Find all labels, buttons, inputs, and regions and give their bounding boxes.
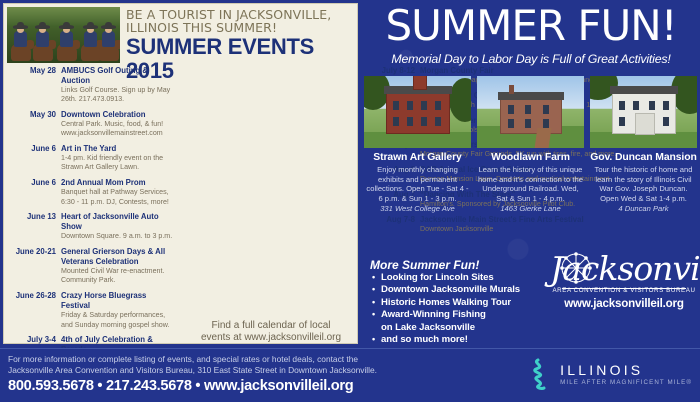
more-summer-fun-list: Looking for Lincoln Sites Downtown Jacks… bbox=[372, 272, 552, 346]
events-panel: BE A TOURIST IN JACKSONVILLE, ILLINOIS T… bbox=[3, 3, 358, 344]
event-desc: 1-4 pm. Kid friendly event on the Strawn… bbox=[61, 154, 176, 173]
list-item: Downtown Jacksonville Murals bbox=[372, 284, 552, 296]
event-date: June 26-28 bbox=[10, 291, 61, 330]
illinois-logo-tagline: MILE AFTER MAGNIFICENT MILE® bbox=[560, 379, 692, 386]
list-item: on Lake Jacksonville bbox=[372, 322, 552, 334]
event-item: June 26-28Crazy Horse Bluegrass Festival… bbox=[10, 291, 176, 330]
summer-fun-headline: SUMMER FUN! bbox=[362, 4, 700, 48]
footer-bar: For more information or complete listing… bbox=[0, 348, 700, 402]
eyebrow-line-2: ILLINOIS THIS SUMMER! bbox=[126, 21, 353, 34]
list-item: Historic Homes Walking Tour bbox=[372, 297, 552, 309]
attraction-card[interactable]: Strawn Art Gallery Enjoy monthly changin… bbox=[364, 76, 471, 214]
event-date: May 28 bbox=[10, 66, 61, 105]
event-date: May 30 bbox=[10, 110, 61, 139]
card-title: Strawn Art Gallery bbox=[364, 152, 471, 164]
event-item: June 20-21General Grierson Days & All Ve… bbox=[10, 247, 176, 286]
footer-contact[interactable]: 800.593.5678 • 217.243.5678 • www.jackso… bbox=[8, 378, 353, 394]
event-desc: Banquet hall at Pathway Services, 6:30 -… bbox=[61, 188, 176, 207]
woodlawn-farm-photo bbox=[477, 76, 584, 148]
calendar-note-line-2: events at www.jacksonvilleil.org bbox=[185, 332, 357, 344]
event-title: General Grierson Days & All Veterans Cel… bbox=[61, 247, 176, 267]
building-shape bbox=[612, 92, 676, 134]
calendar-note: Find a full calendar of local events at … bbox=[185, 320, 357, 344]
event-title: Art in The Yard bbox=[61, 144, 176, 154]
event-title: Crazy Horse Bluegrass Festival bbox=[61, 291, 176, 311]
card-desc: Tour the historic of home and learn the … bbox=[590, 165, 697, 203]
summer-fun-subhead: Memorial Day to Labor Day is Full of Gre… bbox=[362, 52, 700, 66]
event-title: 2nd Annual Mom Prom bbox=[61, 178, 176, 188]
reenactors-photo bbox=[7, 7, 120, 63]
card-title: Woodlawn Farm bbox=[477, 152, 584, 164]
event-desc: Mounted Civil War re-enactment. Communit… bbox=[61, 267, 176, 286]
gov-duncan-mansion-photo bbox=[590, 76, 697, 148]
event-desc: Central Park. Music, food, & fun! www.ja… bbox=[61, 120, 176, 139]
event-desc: Downtown Square. 9 a.m. to 3 p.m. bbox=[61, 232, 176, 241]
event-item: May 28AMBUCS Golf Outing & AuctionLinks … bbox=[10, 66, 176, 105]
event-item: June 13Heart of Jacksonville Auto ShowDo… bbox=[10, 212, 176, 241]
event-date: June 20-21 bbox=[10, 247, 61, 286]
illinois-logo-name: ILLINOIS bbox=[560, 363, 692, 378]
list-item: Looking for Lincoln Sites bbox=[372, 272, 552, 284]
ferris-wheel-icon bbox=[556, 250, 596, 290]
building-shape bbox=[386, 92, 450, 134]
card-title: Gov. Duncan Mansion bbox=[590, 152, 697, 164]
events-column-left: May 28AMBUCS Golf Outing & AuctionLinks … bbox=[4, 66, 181, 389]
card-address: 4 Duncan Park bbox=[590, 204, 697, 214]
event-desc: Links Golf Course. Sign up by May 26th. … bbox=[61, 86, 176, 105]
event-date: June 6 bbox=[10, 178, 61, 207]
cvb-logo[interactable]: Jacksonville AREA CONVENTION & VISITORS … bbox=[550, 252, 698, 310]
logo-url[interactable]: www.jacksonvilleil.org bbox=[550, 297, 698, 310]
attraction-card[interactable]: Gov. Duncan Mansion Tour the historic of… bbox=[590, 76, 697, 214]
footer-line-1: For more information or complete listing… bbox=[8, 354, 358, 365]
illinois-squiggle-icon bbox=[528, 358, 554, 390]
attraction-card[interactable]: Woodlawn Farm Learn the history of this … bbox=[477, 76, 584, 214]
flyer-root: BE A TOURIST IN JACKSONVILLE, ILLINOIS T… bbox=[0, 0, 700, 402]
event-date: June 13 bbox=[10, 212, 61, 241]
list-item: and so much more! bbox=[372, 334, 552, 346]
calendar-note-line-1: Find a full calendar of local bbox=[185, 320, 357, 332]
card-address: 331 West College Ave bbox=[364, 204, 471, 214]
summer-fun-panel: SUMMER FUN! Memorial Day to Labor Day is… bbox=[362, 0, 700, 345]
event-title: Heart of Jacksonville Auto Show bbox=[61, 212, 176, 232]
event-desc: Friday & Saturday performances, and Sund… bbox=[61, 311, 176, 330]
event-item: May 30Downtown CelebrationCentral Park. … bbox=[10, 110, 176, 139]
footer-divider bbox=[0, 348, 700, 349]
building-shape bbox=[500, 98, 562, 134]
strawn-art-gallery-photo bbox=[364, 76, 471, 148]
footer-line-2: Jacksonville Area Convention and Visitor… bbox=[8, 365, 377, 376]
more-summer-fun-title: More Summer Fun! bbox=[370, 258, 479, 272]
event-date: June 6 bbox=[10, 144, 61, 173]
illinois-tourism-logo: ILLINOIS MILE AFTER MAGNIFICENT MILE® bbox=[528, 358, 692, 390]
event-item: June 62nd Annual Mom PromBanquet hall at… bbox=[10, 178, 176, 207]
event-title: AMBUCS Golf Outing & Auction bbox=[61, 66, 176, 86]
list-item: Award-Winning Fishing bbox=[372, 309, 552, 321]
event-item: June 6Art in The Yard1-4 pm. Kid friendl… bbox=[10, 144, 176, 173]
card-desc: Enjoy monthly changing exhibits and perm… bbox=[364, 165, 471, 203]
card-desc: Learn the history of this unique home an… bbox=[477, 165, 584, 203]
card-address: 1463 Gierke Lane bbox=[477, 204, 584, 214]
attraction-cards: Strawn Art Gallery Enjoy monthly changin… bbox=[364, 76, 698, 214]
event-title: Downtown Celebration bbox=[61, 110, 176, 120]
